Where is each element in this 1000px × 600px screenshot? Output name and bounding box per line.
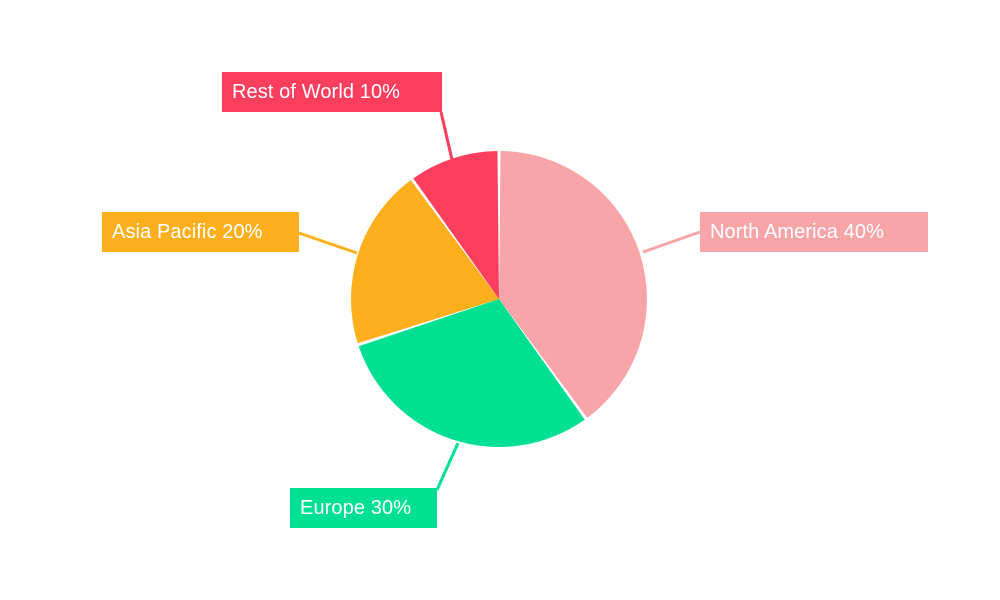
slice-label-north-america: North America 40% [700,212,928,252]
pie-chart-canvas [0,0,1000,600]
slice-label-text: Asia Pacific 20% [112,212,263,252]
slice-label-rest-of-world: Rest of World 10% [222,72,442,112]
leader-line-north-america [643,232,700,252]
slice-label-text: Rest of World 10% [232,72,400,112]
slice-label-europe: Europe 30% [290,488,437,528]
slice-label-text: Europe 30% [300,488,411,528]
leader-line-europe [437,443,458,490]
pie-slices-group [351,151,647,447]
pie-chart-figure: North America 40% Europe 30% Asia Pacifi… [0,0,1000,600]
slice-label-text: North America 40% [710,212,884,252]
leader-line-asia-pacific [299,233,357,253]
slice-label-asia-pacific: Asia Pacific 20% [102,212,299,252]
